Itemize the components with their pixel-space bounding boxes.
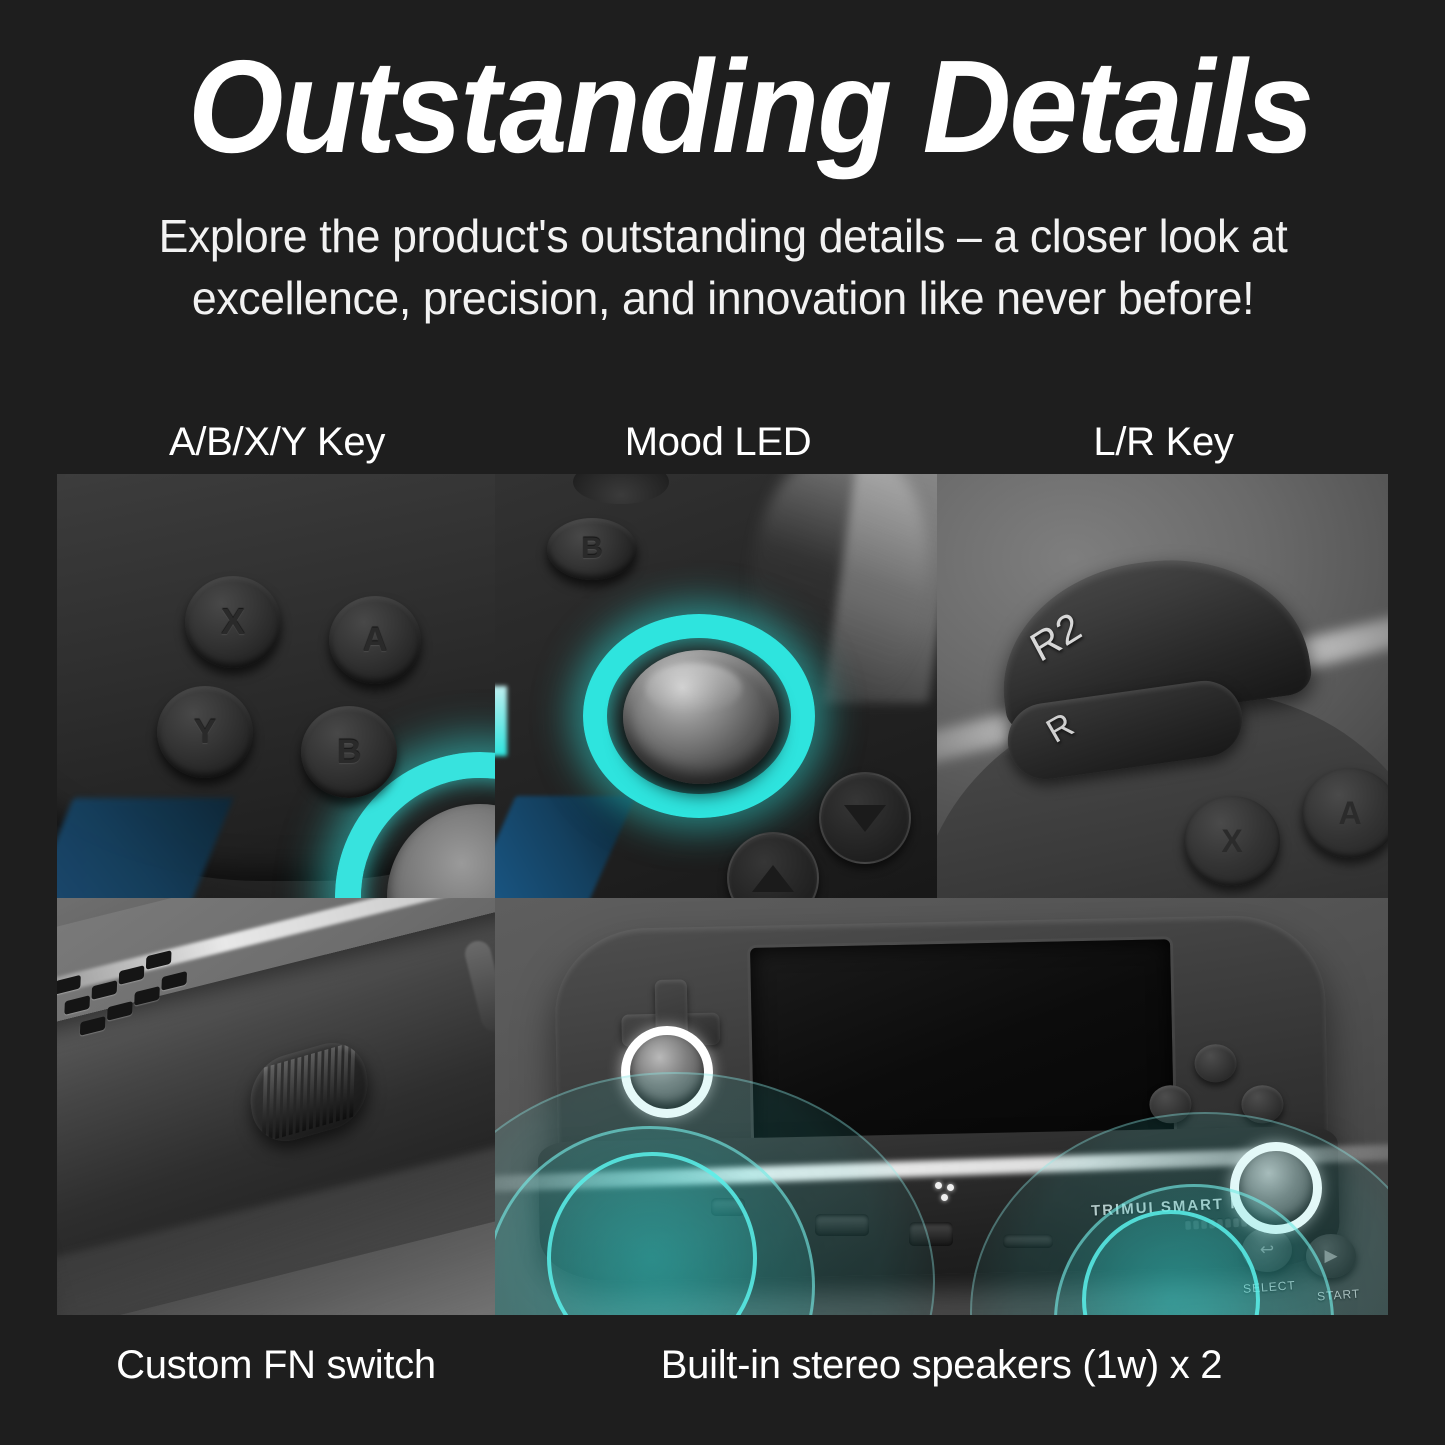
button-a: A (329, 596, 421, 684)
dpad-down-icon (819, 772, 911, 864)
start-button: ▶ (1306, 1234, 1356, 1278)
photo-mood-led: B (495, 474, 937, 898)
top-label-row: A/B/X/Y Key Mood LED L/R Key (57, 418, 1388, 466)
photo-stereo-speakers: TRIMUI SMART PRO ↩ ▶ SELECT START (495, 898, 1388, 1315)
caption-fn-switch: Custom FN switch (57, 1340, 495, 1390)
console-port-a (815, 1214, 869, 1236)
page-title: Outstanding Details (188, 48, 1230, 166)
console-right-stick (1230, 1142, 1322, 1234)
shoulder-r2-label: R2 (1023, 604, 1089, 672)
label-abxy-key: A/B/X/Y Key (57, 418, 497, 466)
bottom-caption-row: Custom FN switch Built-in stereo speaker… (57, 1340, 1388, 1390)
button-y: Y (157, 686, 253, 778)
led-cyan-edge (495, 686, 507, 756)
page-subtitle: Explore the product's outstanding detail… (107, 205, 1339, 329)
lr-face-button-a: A (1302, 768, 1388, 858)
button-b-mood: B (547, 518, 637, 580)
page-root: Outstanding Details Explore the product'… (0, 0, 1445, 1445)
photo-grid: X A Y B B R2 R (57, 474, 1388, 1315)
mood-analog-stick (623, 650, 779, 784)
label-mood-led: Mood LED (497, 418, 939, 466)
console-left-stick (621, 1026, 713, 1118)
photo-fn-switch (57, 898, 495, 1315)
start-button-label: START (1316, 1287, 1360, 1304)
select-button: ↩ (1242, 1228, 1292, 1272)
console-indicator-dots (935, 1182, 959, 1202)
photo-abxy-key: X A Y B (57, 474, 495, 898)
photo-lr-key: R2 R X A (937, 474, 1388, 898)
console-port-b (909, 1222, 953, 1246)
console-port-c (1003, 1234, 1053, 1248)
caption-stereo-speakers: Built-in stereo speakers (1w) x 2 (495, 1340, 1388, 1390)
console-port-d (711, 1198, 745, 1216)
button-b: B (301, 706, 397, 798)
lr-face-button-x: X (1184, 796, 1280, 886)
button-x: X (185, 576, 281, 668)
label-lr-key: L/R Key (939, 418, 1388, 466)
shoulder-r-label: R (1040, 705, 1081, 751)
select-button-label: SELECT (1243, 1278, 1297, 1296)
